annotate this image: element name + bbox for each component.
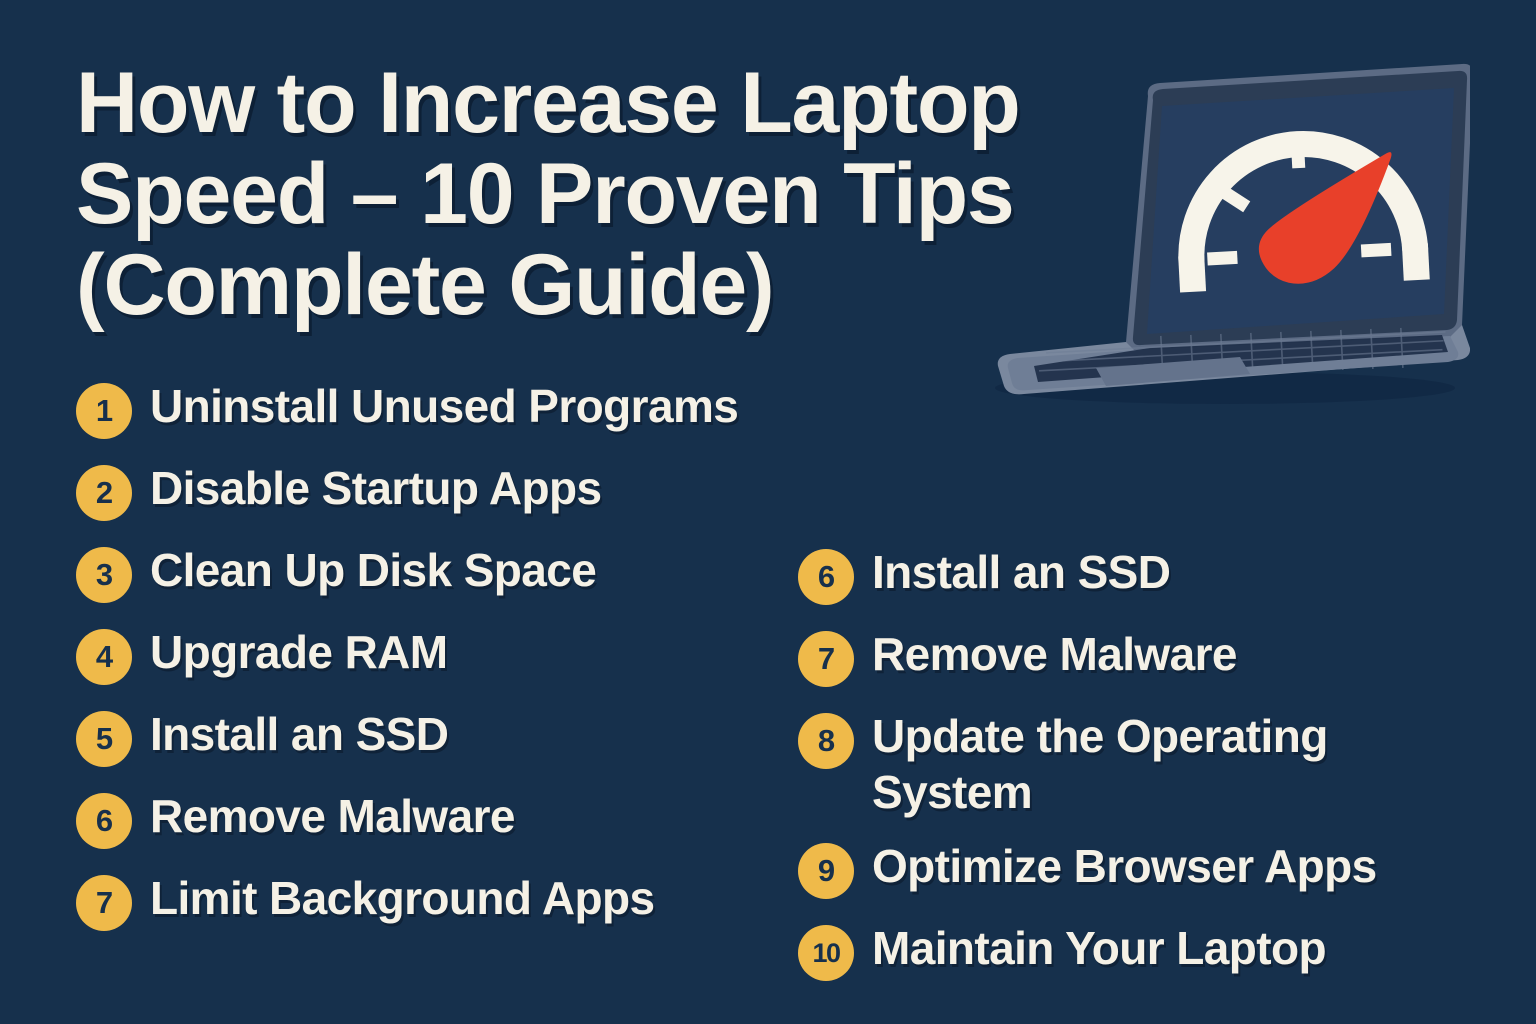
tip-item[interactable]: 3 Clean Up Disk Space [76,542,776,606]
tip-label: Disable Startup Apps [150,460,601,516]
tip-label: Install an SSD [150,706,448,762]
tip-item[interactable]: 6 Remove Malware [76,788,776,852]
tip-label: Update the Operating System [872,708,1478,820]
tip-item[interactable]: 6 Install an SSD [798,544,1478,608]
tip-number-badge: 5 [76,711,132,767]
tip-number-badge: 2 [76,465,132,521]
tip-label: Uninstall Unused Programs [150,378,738,434]
tip-item[interactable]: 10 Maintain Your Laptop [798,920,1478,984]
tip-number-badge: 1 [76,383,132,439]
infographic-canvas: How to Increase Laptop Speed – 10 Proven… [0,0,1536,1024]
tip-label: Remove Malware [872,626,1237,682]
tip-item[interactable]: 5 Install an SSD [76,706,776,770]
tip-number-badge: 9 [798,843,854,899]
tip-item[interactable]: 7 Remove Malware [798,626,1478,690]
tip-item[interactable]: 2 Disable Startup Apps [76,460,776,524]
tip-number-badge: 7 [798,631,854,687]
page-title: How to Increase Laptop Speed – 10 Proven… [76,58,1066,331]
tip-number-badge: 6 [76,793,132,849]
tip-number-badge: 4 [76,629,132,685]
tip-label: Clean Up Disk Space [150,542,596,598]
tip-label: Remove Malware [150,788,515,844]
tip-label: Upgrade RAM [150,624,448,680]
tip-label: Limit Background Apps [150,870,655,926]
tips-column-left: 1 Uninstall Unused Programs 2 Disable St… [76,378,776,952]
tip-item[interactable]: 7 Limit Background Apps [76,870,776,934]
tip-item[interactable]: 4 Upgrade RAM [76,624,776,688]
tip-number-badge: 7 [76,875,132,931]
tip-number-badge: 6 [798,549,854,605]
tip-item[interactable]: 8 Update the Operating System [798,708,1478,820]
laptop-illustration [950,52,1470,412]
tip-number-badge: 8 [798,713,854,769]
tip-number-badge: 10 [798,925,854,981]
tip-number-badge: 3 [76,547,132,603]
tip-item[interactable]: 9 Optimize Browser Apps [798,838,1478,902]
tip-label: Maintain Your Laptop [872,920,1326,976]
tip-label: Optimize Browser Apps [872,838,1377,894]
tip-label: Install an SSD [872,544,1170,600]
tips-column-right: 6 Install an SSD 7 Remove Malware 8 Upda… [798,544,1478,1002]
tip-item[interactable]: 1 Uninstall Unused Programs [76,378,776,442]
